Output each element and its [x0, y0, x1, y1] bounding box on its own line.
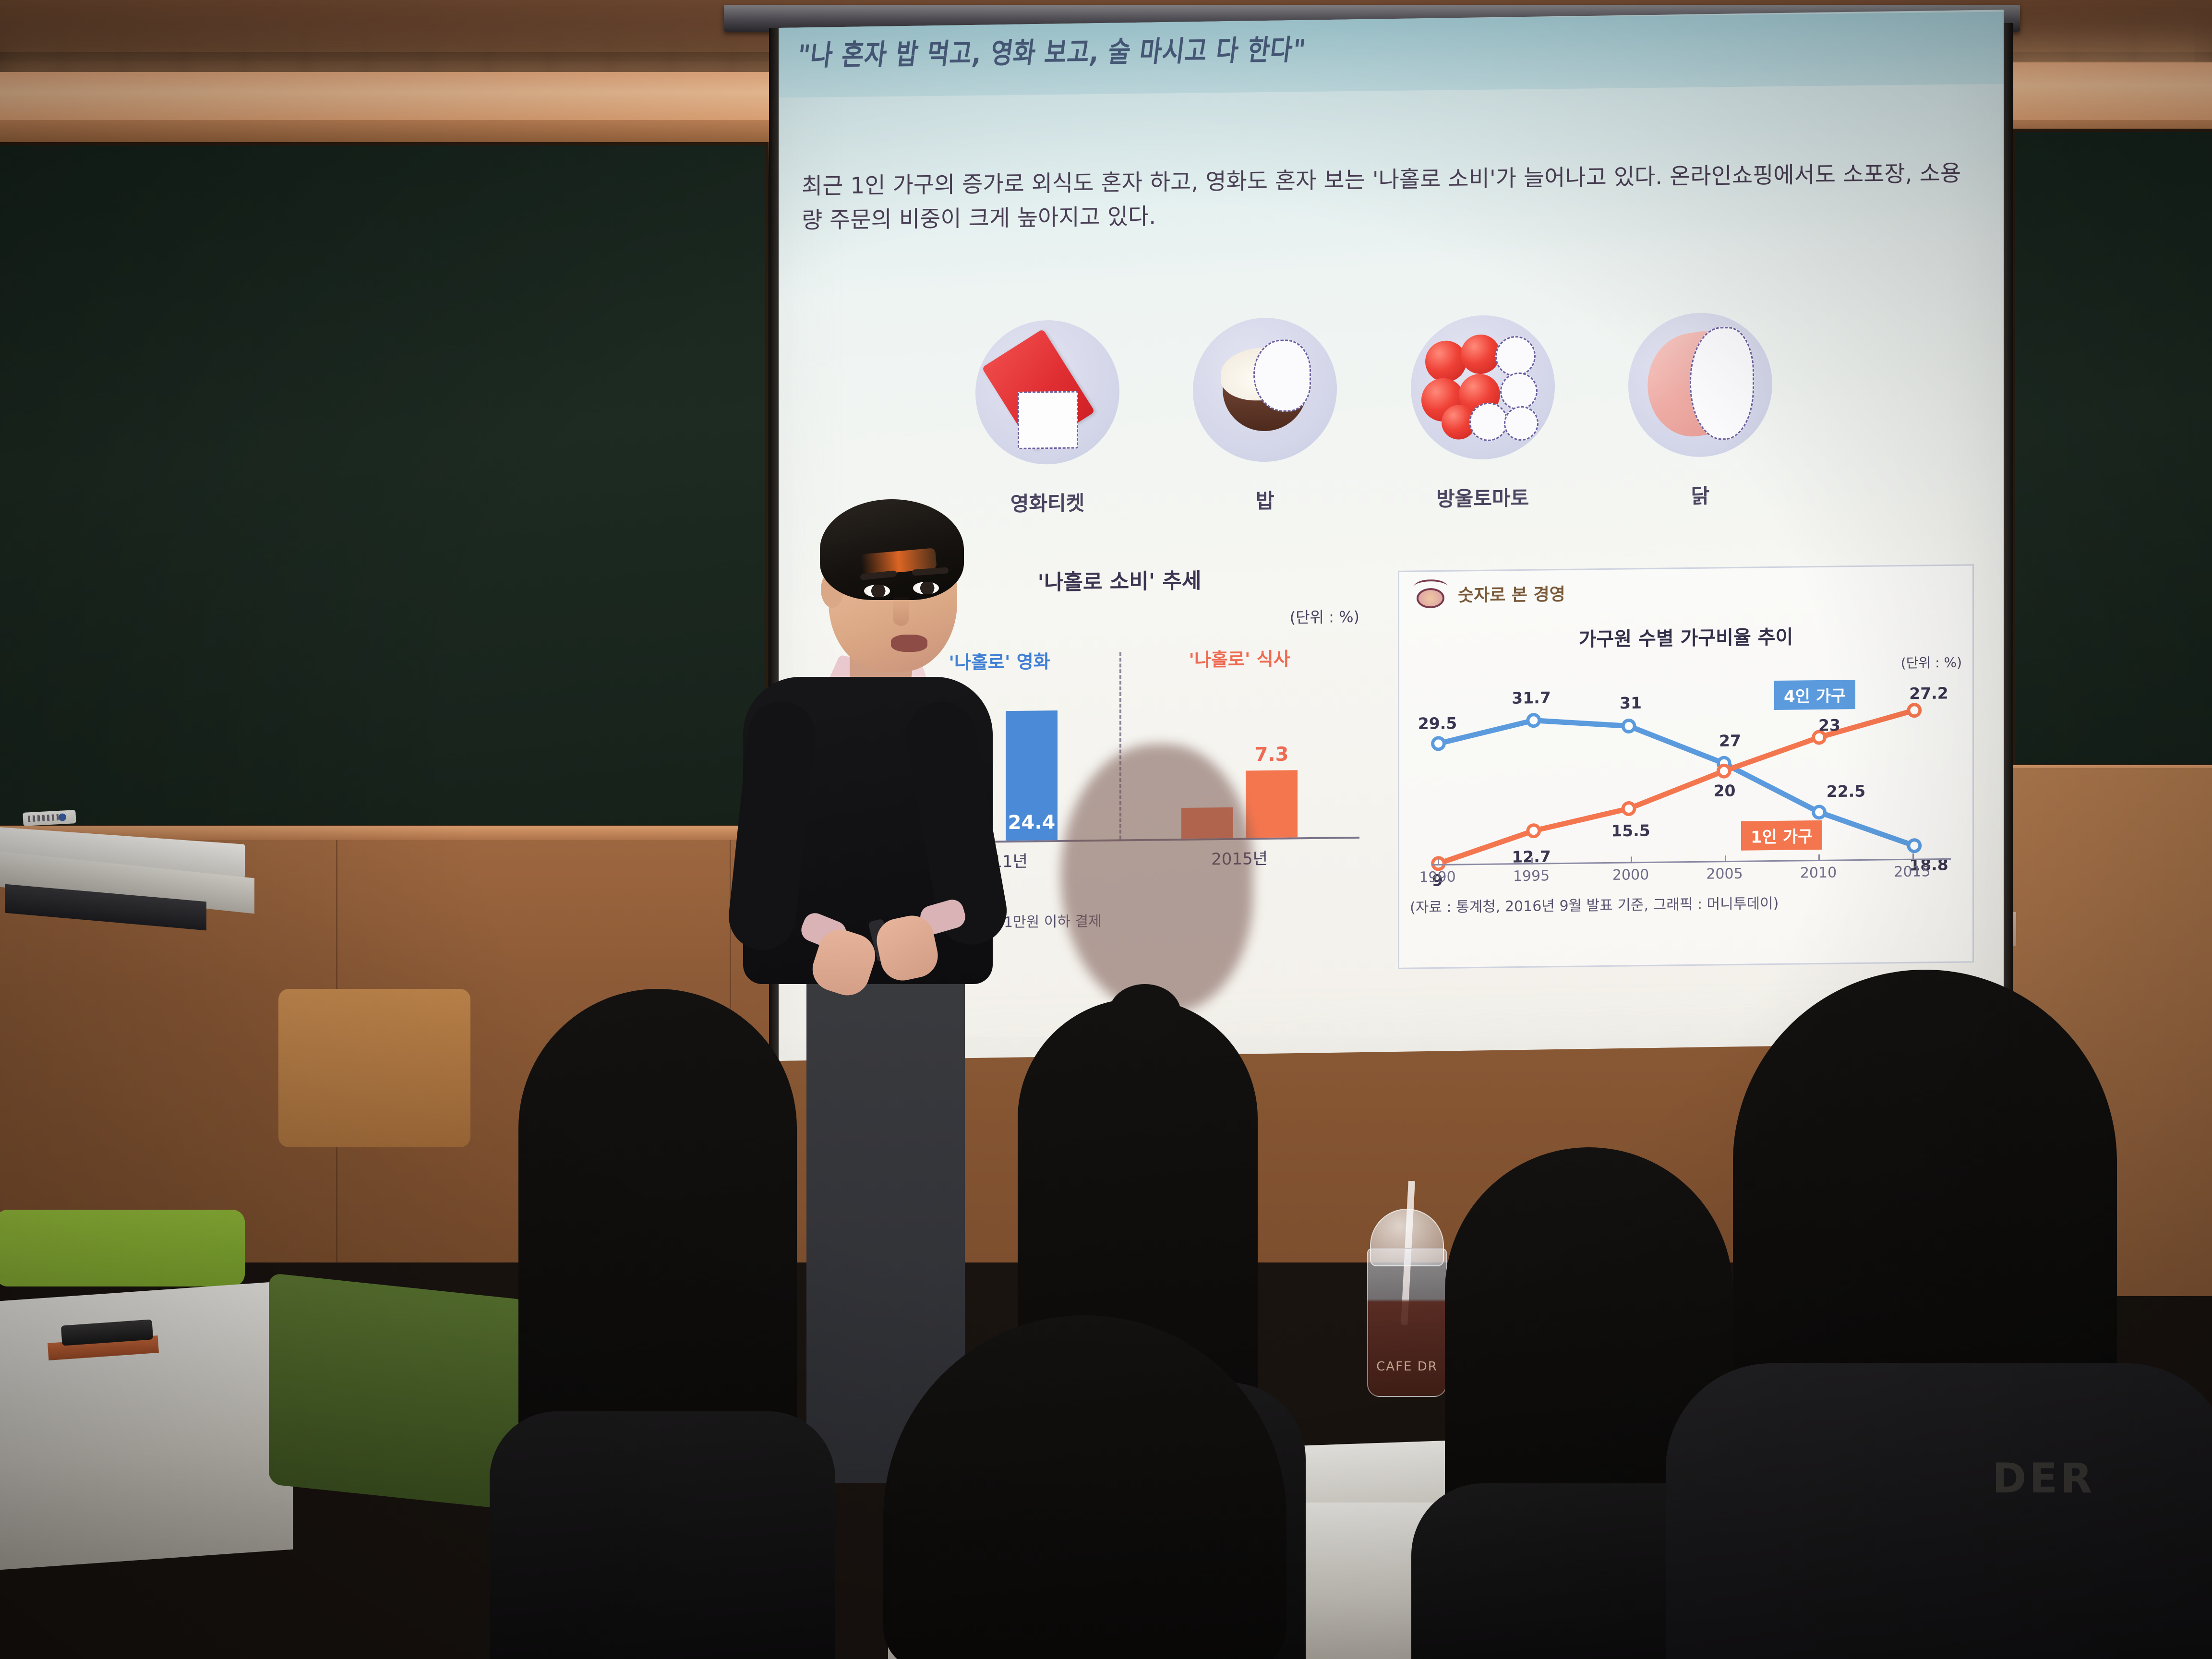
line-chart-title: 가구원 수별 가구비율 추이 — [1410, 620, 1962, 654]
rice-cutout-outline — [1253, 339, 1311, 412]
movie-ticket-icon — [975, 319, 1119, 465]
slide-body-text: 최근 1인 가구의 증가로 외식도 혼자 하고, 영화도 혼자 보는 '나홀로 … — [802, 156, 1963, 238]
green-seat-front-left — [0, 1210, 245, 1286]
eye-icon — [1410, 579, 1451, 610]
projector-remote-icon[interactable] — [23, 810, 76, 826]
bar-value-meal-2015: 7.3 — [1255, 743, 1289, 766]
cove-light-right — [2002, 62, 2212, 120]
xtick-2015: 2015 — [1894, 863, 1930, 880]
icon-label-chicken: 닭 — [1614, 479, 1787, 510]
xtick-1995: 1995 — [1513, 867, 1550, 885]
presenter-mouth — [891, 635, 927, 652]
chicken-cutout-outline — [1690, 326, 1754, 440]
tomato-cutout-outline — [1495, 336, 1536, 377]
legend-tag-4-person: 4인 가구 — [1774, 680, 1855, 710]
screen-edge-right — [2003, 23, 2013, 1060]
bar-meal-2015: 7.3 — [1246, 770, 1298, 838]
line-chart-source: (자료 : 통계청, 2016년 9월 발표 기준, 그래픽 : 머니투데이) — [1410, 890, 1962, 917]
icon-item-cherry-tomato: 방울토마토 — [1396, 314, 1569, 518]
xtick-2005: 2005 — [1706, 866, 1743, 883]
xtick-2000: 2000 — [1612, 866, 1649, 884]
classroom-lecture-photo: "나 혼자 밥 먹고, 영화 보고, 술 마시고 다 한다" 최근 1인 가구의… — [0, 0, 2212, 1659]
value-1p-2010: 23 — [1818, 716, 1840, 735]
student-hair — [883, 1315, 1286, 1659]
student-jacket — [1666, 1363, 2212, 1659]
cherry-tomato-icon — [1411, 314, 1555, 460]
student-foreground-center — [845, 1315, 1325, 1659]
student-right: DER — [1675, 970, 2212, 1659]
chicken-icon — [1628, 312, 1772, 457]
presenter-hair — [820, 499, 964, 600]
product-icon-row: 영화티켓 밥 — [961, 312, 1787, 523]
lectern — [0, 835, 254, 1133]
icon-item-movie-ticket: 영화티켓 — [961, 319, 1134, 523]
xtick-2010: 2010 — [1800, 865, 1837, 882]
value-4p-2010: 22.5 — [1827, 781, 1865, 801]
household-ratio-line-chart: 숫자로 본 경영 가구원 수별 가구비율 추이 (단위 : %) — [1398, 564, 1974, 969]
line-chart-svg — [1410, 674, 1962, 887]
xtick-1990: 1990 — [1419, 869, 1455, 886]
student-hair-bun — [1109, 984, 1181, 1042]
value-4p-1990: 29.5 — [1418, 714, 1457, 733]
tomato — [1461, 334, 1500, 374]
icon-label-rice: 밥 — [1178, 484, 1351, 515]
value-4p-2005: 27 — [1719, 732, 1741, 751]
presenter-eye-left — [864, 585, 890, 597]
line-chart-header-label: 숫자로 본 경영 — [1458, 580, 1565, 607]
tomato-cutout-outline — [1504, 406, 1539, 441]
wooden-chair — [278, 989, 470, 1147]
icon-item-chicken: 닭 — [1614, 312, 1787, 516]
green-seat-left — [269, 1273, 528, 1512]
presenter-shadow — [1061, 744, 1253, 1013]
rice-bowl-icon — [1193, 317, 1337, 462]
tomato-cutout-outline — [1469, 402, 1508, 441]
value-1p-2000: 15.5 — [1611, 821, 1650, 841]
value-1p-2005: 20 — [1714, 781, 1736, 800]
legend-solo-meal: '나홀로' 식사 — [1119, 643, 1359, 673]
value-4p-1995: 31.7 — [1512, 688, 1551, 707]
student-front-left — [490, 989, 826, 1659]
presenter-nose — [893, 596, 909, 626]
icon-label-cherry-tomato: 방울토마토 — [1396, 481, 1569, 513]
icon-item-rice: 밥 — [1178, 317, 1351, 520]
line-plot-area: 29.5 31.7 31 27 22.5 18.8 9 12.7 15.5 20… — [1410, 674, 1962, 887]
chalkboard-right — [2011, 129, 2212, 767]
value-4p-2000: 31 — [1620, 693, 1642, 712]
tomato — [1425, 340, 1467, 382]
line-chart-header: 숫자로 본 경영 — [1410, 574, 1962, 610]
tomato-cutout-outline — [1500, 373, 1538, 410]
ticket-stub-outline — [1018, 391, 1078, 449]
student-torso — [490, 1411, 835, 1659]
presenter-eye-right — [913, 582, 939, 594]
chalkboard-left — [0, 142, 768, 829]
line-chart-unit: (단위 : %) — [1410, 652, 1962, 678]
value-1p-2015: 27.2 — [1909, 684, 1948, 703]
jacket-logo-text: DER — [1992, 1455, 2095, 1503]
legend-tag-1-person: 1인 가구 — [1741, 820, 1822, 851]
